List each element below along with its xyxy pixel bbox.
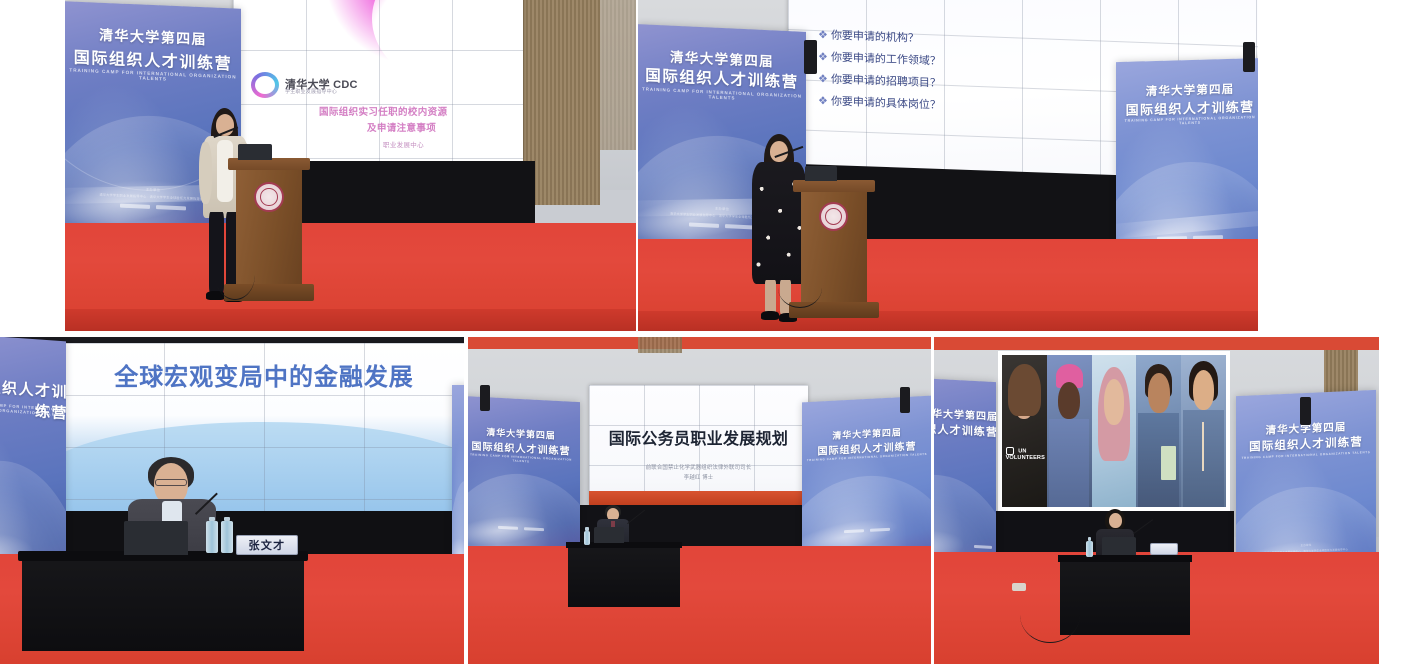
head bbox=[1109, 513, 1122, 528]
nameplate bbox=[1150, 543, 1178, 555]
event-banner-right: 清华大学第四届 国际组织人才训练营 TRAINING CAMP FOR INTE… bbox=[802, 396, 931, 563]
face bbox=[1058, 382, 1080, 418]
stage-front-edge bbox=[638, 311, 1258, 331]
pa-speaker-right bbox=[1300, 397, 1311, 425]
table-top bbox=[1058, 555, 1192, 562]
laptop-screen bbox=[124, 521, 188, 555]
tsinghua-seal bbox=[254, 182, 284, 212]
red-carpet bbox=[468, 546, 931, 664]
slide-title: 国际公务员职业发展规划 bbox=[589, 425, 808, 449]
water-bottle-1 bbox=[206, 521, 218, 553]
face bbox=[1104, 379, 1125, 425]
slide-subtitle: 职业发展中心 bbox=[383, 139, 424, 149]
water-bottle bbox=[584, 531, 590, 545]
led-video-wall: 国际公务员职业发展规划 前联合国禁止化学武器组织法律外联司司长 李越红 博士 bbox=[589, 385, 808, 505]
stage-front-edge bbox=[65, 309, 636, 331]
tsinghua-seal bbox=[819, 202, 848, 231]
slide-title: 全球宏观变局中的金融发展 bbox=[64, 357, 464, 392]
banner-globe-graphic bbox=[468, 470, 580, 558]
laptop-screen bbox=[238, 144, 272, 160]
nameplate: 张文才 bbox=[236, 535, 298, 555]
slide-bullet-list: ❖ 你要申请的机构？ ❖ 你要申请的工作领域？ ❖ 你要申请的招聘项目？ ❖ 你… bbox=[818, 24, 941, 117]
un-volunteers-badge: UN VOLUNTEERS bbox=[1006, 447, 1045, 461]
photo-bottom-right: UN VOLUNTEERS bbox=[934, 337, 1379, 664]
laptop-screen bbox=[594, 527, 624, 543]
shoe-left bbox=[761, 311, 779, 320]
photo-top-right: 申请前 ❖ 你要申请的机构？ ❖ 你要申请的工作领域？ ❖ 你要申请的招聘项目？… bbox=[638, 0, 1258, 331]
pa-speaker-left bbox=[480, 385, 490, 411]
power-cable bbox=[1020, 587, 1080, 643]
photo-bottom-left: 全球宏观变局中的金融发展 国际组织人才训练营 TRAINING CAMP FOR… bbox=[0, 337, 464, 664]
wood-wall-panel-right bbox=[600, 0, 636, 150]
cdc-logo-subtext: 学生职业发展指导中心 bbox=[285, 88, 337, 95]
vest bbox=[1049, 419, 1088, 507]
led-video-wall: 清华大学 CDC 学生职业发展指导中心 国际组织实习任职的校内资源 及申请注意事… bbox=[233, 0, 523, 161]
diamond-bullet-icon: ❖ bbox=[818, 73, 828, 85]
bullet-item-4: ❖ 你要申请的具体岗位？ bbox=[818, 90, 941, 117]
hair bbox=[1008, 364, 1040, 416]
wood-wall-panel bbox=[638, 337, 682, 353]
diamond-bullet-icon: ❖ bbox=[818, 51, 828, 63]
power-cable bbox=[215, 250, 255, 300]
un-panel-2 bbox=[1047, 355, 1092, 507]
lanyard bbox=[1202, 422, 1204, 471]
photo-collage: 清华大学 CDC 学生职业发展指导中心 国际组织实习任职的校内资源 及申请注意事… bbox=[0, 0, 1405, 664]
slide-subtitle-line2: 李越红 博士 bbox=[589, 473, 808, 481]
eyeglasses-icon bbox=[155, 479, 187, 486]
arm-left bbox=[199, 142, 212, 204]
water-bottle bbox=[1086, 541, 1093, 557]
stage-top-red-band bbox=[934, 337, 1379, 350]
speaker-table bbox=[1060, 559, 1190, 635]
slide-accent-bar bbox=[589, 491, 808, 505]
diamond-bullet-icon: ❖ bbox=[818, 29, 828, 41]
face bbox=[1193, 370, 1215, 410]
event-banner-left: 清华大学第四届 国际组织人才训练营 TRAINING CAMP FOR INTE… bbox=[468, 396, 580, 558]
cdc-logo bbox=[251, 72, 279, 98]
booklet bbox=[1161, 446, 1176, 479]
un-panel-1: UN VOLUNTEERS bbox=[1002, 355, 1047, 507]
un-panel-5 bbox=[1181, 355, 1226, 507]
pa-speaker-right bbox=[1243, 42, 1255, 72]
led-video-wall: UN VOLUNTEERS bbox=[998, 351, 1230, 511]
speaker-table bbox=[568, 545, 680, 607]
face bbox=[1148, 373, 1170, 413]
slide-title-line2: 及申请注意事项 bbox=[367, 120, 436, 134]
power-cable bbox=[778, 268, 822, 308]
slide-title-line1: 国际组织实习任职的校内资源 bbox=[319, 104, 447, 118]
laptop-screen bbox=[1102, 537, 1136, 555]
leg-left bbox=[765, 280, 776, 314]
floor-power-box bbox=[1012, 583, 1026, 591]
photo-top-left: 清华大学 CDC 学生职业发展指导中心 国际组织实习任职的校内资源 及申请注意事… bbox=[65, 0, 636, 331]
podium-top bbox=[793, 180, 875, 192]
un-panel-4 bbox=[1136, 355, 1181, 507]
stage-top-red-band bbox=[468, 337, 931, 349]
banner-line1-partial: 清华大学第四届 bbox=[934, 402, 996, 423]
diamond-bullet-icon: ❖ bbox=[818, 95, 828, 107]
pa-speaker-right bbox=[900, 387, 910, 413]
laptop-screen bbox=[805, 166, 837, 181]
slide-subtitle-line1: 前联合国禁止化学武器组织法律外联司司长 bbox=[589, 463, 808, 471]
photo-bottom-middle: 国际公务员职业发展规划 前联合国禁止化学武器组织法律外联司司长 李越红 博士 清… bbox=[468, 337, 931, 664]
water-bottle-2 bbox=[221, 521, 233, 553]
un-panel-3 bbox=[1092, 355, 1137, 507]
speaker-table bbox=[22, 555, 304, 651]
pa-speaker bbox=[804, 40, 817, 74]
